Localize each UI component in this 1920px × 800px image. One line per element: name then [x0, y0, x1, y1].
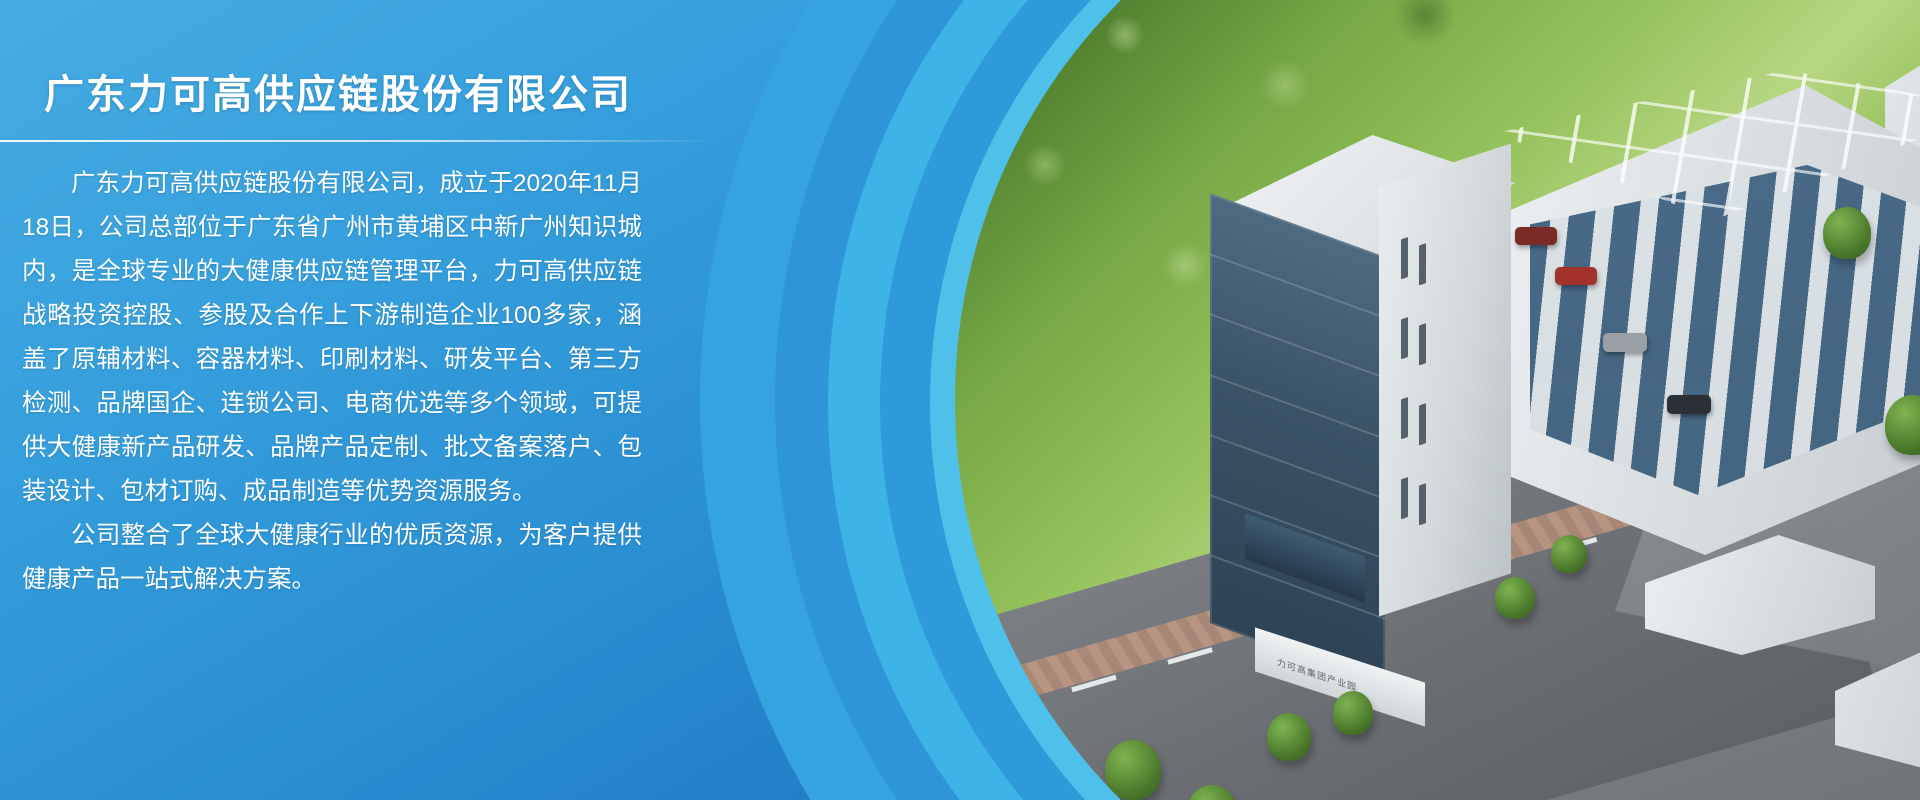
campus-aerial-photo: 力可高集团产业园: [955, 0, 1920, 800]
street-tree: [1105, 740, 1161, 800]
car-red: [1515, 227, 1557, 245]
office-tower-side-wall: [1379, 144, 1511, 617]
street-tree: [1267, 713, 1311, 761]
street-tree: [1551, 535, 1587, 573]
car-red: [1555, 267, 1597, 285]
description-paragraph-2: 公司整合了全球大健康行业的优质资源，为客户提供健康产品一站式解决方案。: [22, 514, 642, 602]
office-tower-glass-facade: [1210, 193, 1385, 687]
street-tree: [1823, 207, 1871, 259]
title-divider: [0, 140, 716, 142]
rock-outcrop: [1255, 0, 1675, 35]
street-tree: [1333, 691, 1373, 735]
text-panel: 广东力可高供应链股份有限公司 广东力可高供应链股份有限公司，成立于2020年11…: [0, 0, 680, 800]
car-dark: [1667, 395, 1711, 414]
car-silver: [1603, 333, 1647, 352]
street-tree: [1495, 577, 1535, 619]
page-title: 广东力可高供应链股份有限公司: [44, 62, 632, 120]
campus-photo-disc: 力可高集团产业园: [955, 0, 1920, 800]
description-paragraph-1: 广东力可高供应链股份有限公司，成立于2020年11月18日，公司总部位于广东省广…: [22, 162, 642, 514]
company-description: 广东力可高供应链股份有限公司，成立于2020年11月18日，公司总部位于广东省广…: [22, 162, 642, 602]
company-profile-banner: 力可高集团产业园 广东力可高供应链股份有限公司 广东力可高供应链股份有限公司，成…: [0, 0, 1920, 800]
